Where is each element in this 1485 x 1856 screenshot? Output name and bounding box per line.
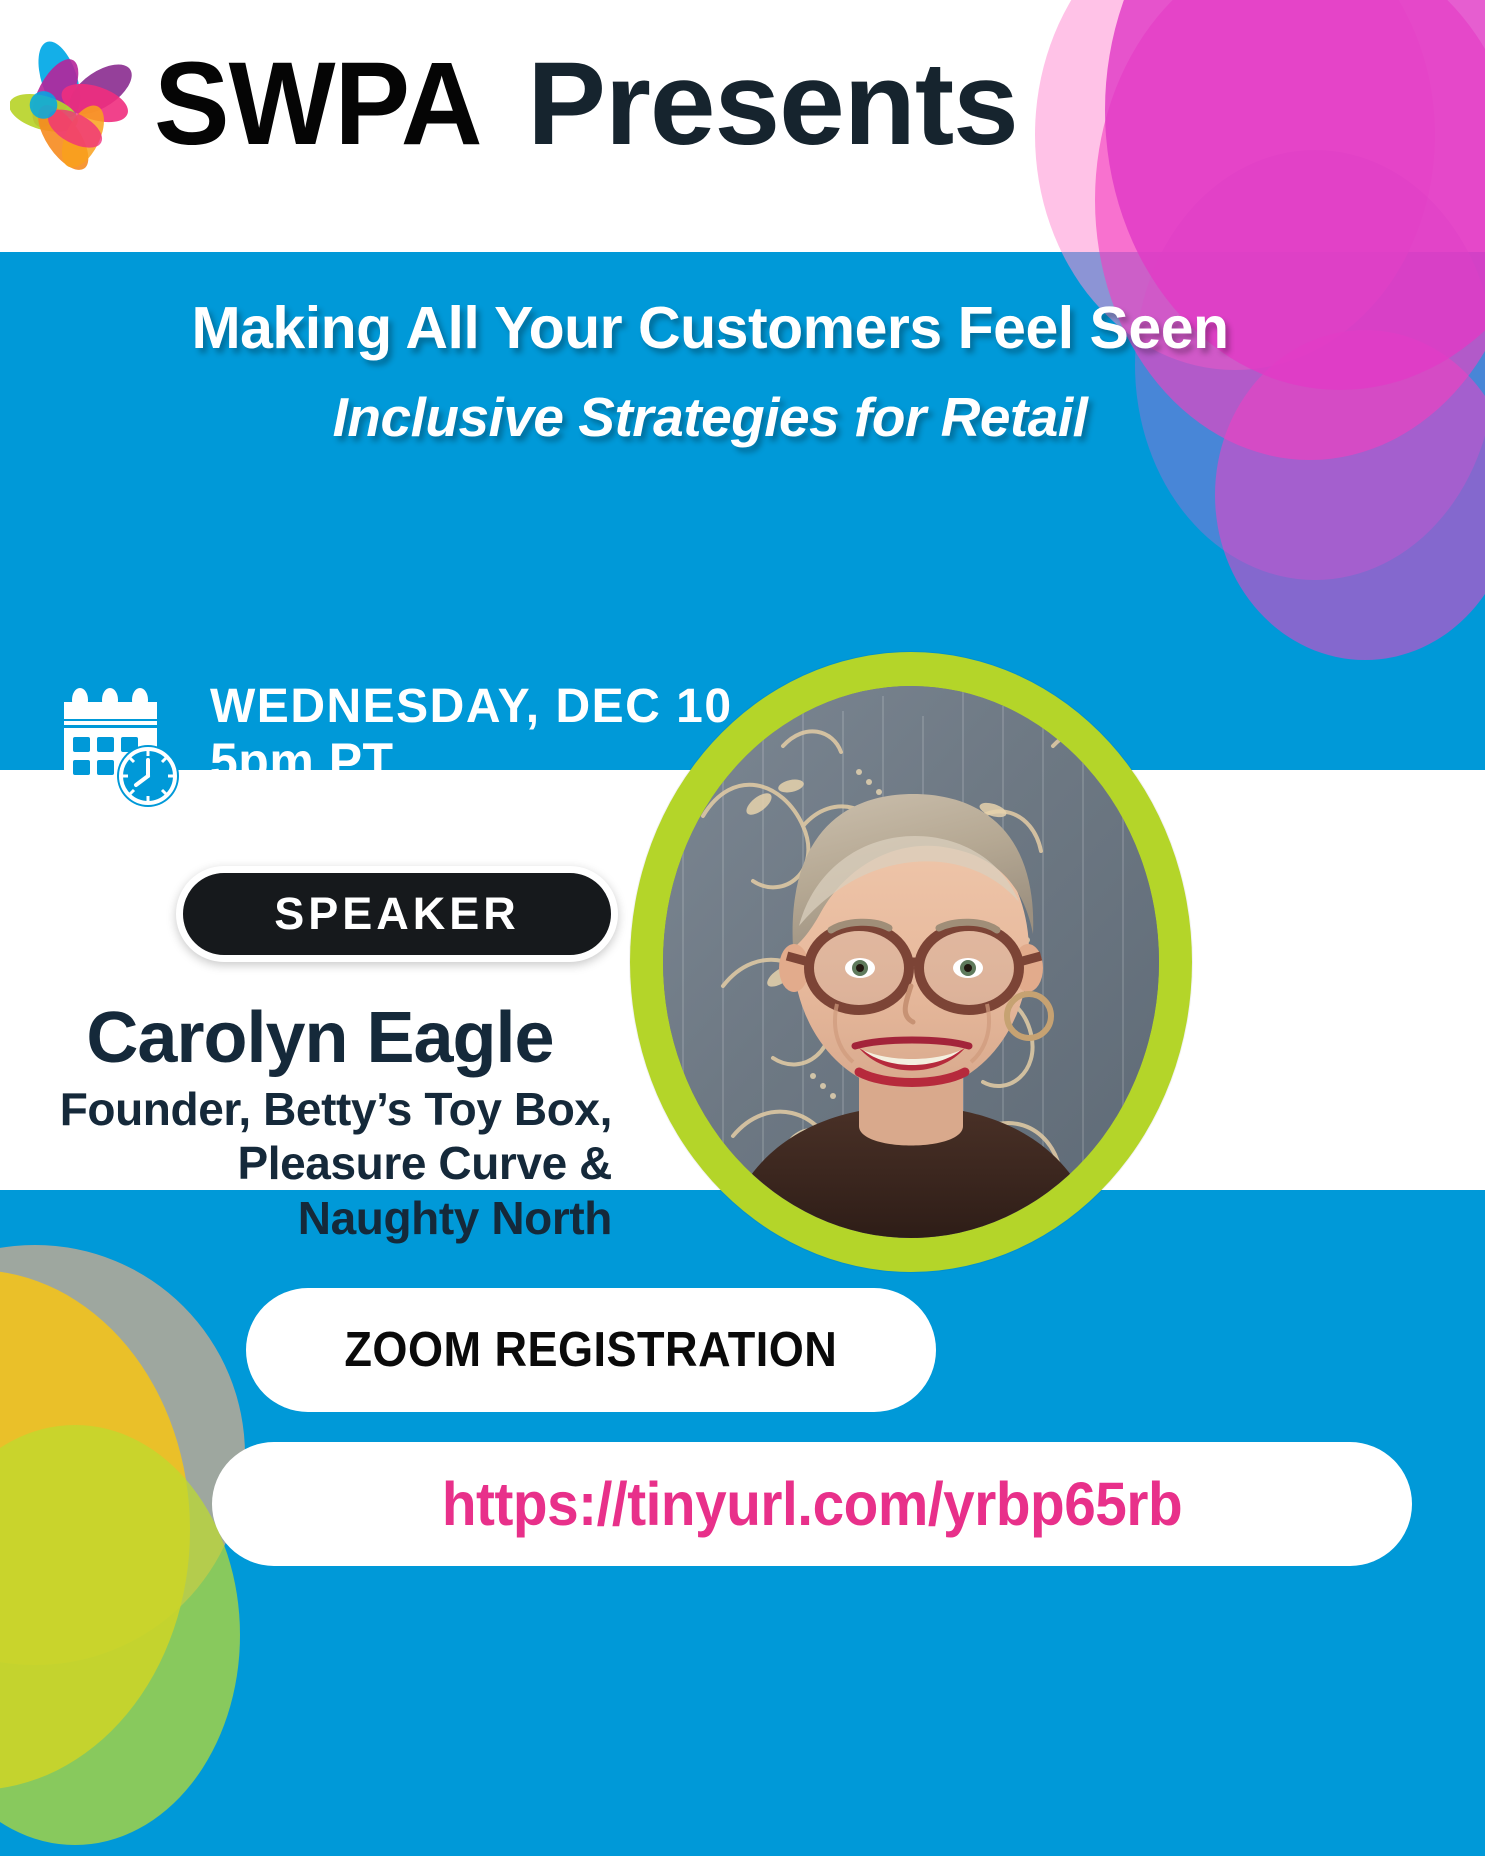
event-time: 5pm PT bbox=[210, 733, 733, 789]
speaker-role-line-1: Founder, Betty’s Toy Box, bbox=[0, 1082, 612, 1136]
speaker-portrait-ring bbox=[630, 652, 1192, 1272]
event-datetime: WEDNESDAY, DEC 10 5pm PT bbox=[60, 682, 733, 810]
speaker-badge-label: SPEAKER bbox=[274, 888, 520, 940]
speaker-badge: SPEAKER bbox=[176, 866, 618, 962]
calendar-clock-icon bbox=[60, 688, 190, 810]
speaker-role: Founder, Betty’s Toy Box, Pleasure Curve… bbox=[0, 1082, 640, 1245]
zoom-registration-label: ZOOM REGISTRATION bbox=[345, 1322, 838, 1378]
event-title: Making All Your Customers Feel Seen bbox=[0, 294, 1420, 362]
registration-url-text: https://tinyurl.com/yrbp65rb bbox=[442, 1469, 1182, 1539]
swpa-pinwheel-logo-icon bbox=[10, 34, 148, 174]
speaker-role-line-3: Naughty North bbox=[0, 1191, 612, 1245]
brand-swpa-text: SWPA bbox=[154, 45, 482, 163]
registration-url-button[interactable]: https://tinyurl.com/yrbp65rb bbox=[212, 1442, 1412, 1566]
speaker-role-line-2: Pleasure Curve & bbox=[0, 1136, 612, 1190]
brand-wordmark: SWPA Presents bbox=[154, 45, 1018, 163]
datetime-text: WEDNESDAY, DEC 10 5pm PT bbox=[210, 682, 733, 789]
event-date: WEDNESDAY, DEC 10 bbox=[210, 682, 733, 733]
event-flyer: SWPA Presents Making All Your Customers … bbox=[0, 0, 1485, 1856]
speaker-portrait-photo bbox=[663, 686, 1159, 1238]
hero-section: Making All Your Customers Feel Seen Incl… bbox=[0, 252, 1485, 770]
speaker-name: Carolyn Eagle bbox=[0, 1002, 640, 1074]
event-subtitle: Inclusive Strategies for Retail bbox=[0, 385, 1420, 449]
brand-header: SWPA Presents bbox=[10, 34, 1018, 174]
zoom-registration-button[interactable]: ZOOM REGISTRATION bbox=[246, 1288, 936, 1412]
brand-presents-text: Presents bbox=[527, 45, 1018, 163]
